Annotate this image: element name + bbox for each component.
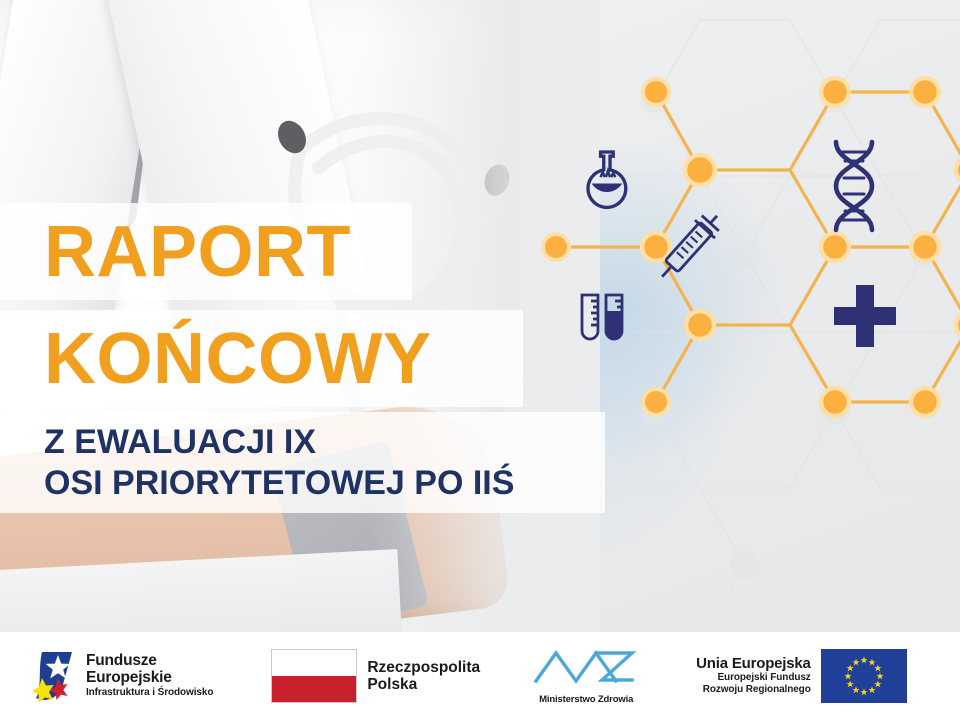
mz-mark-icon	[532, 647, 640, 687]
footer-logo-bar: Fundusze Europejskie Infrastruktura i Śr…	[0, 632, 960, 720]
polish-flag-icon	[271, 649, 357, 703]
logo-ministerstwo-zdrowia: Ministerstwo Zdrowia	[532, 647, 640, 705]
test-tubes-icon	[582, 295, 622, 339]
title-band-raport: RAPORT	[0, 203, 412, 300]
mz-caption: Ministerstwo Zdrowia	[532, 694, 640, 705]
flask-icon	[588, 152, 626, 207]
poster-root: RAPORT KOŃCOWY Z EWALUACJI IX OSI PRIORY…	[0, 0, 960, 720]
hero-section: RAPORT KOŃCOWY Z EWALUACJI IX OSI PRIORY…	[0, 0, 960, 632]
subtitle-line-2: OSI PRIORYTETOWEJ PO IIŚ	[0, 463, 514, 503]
ue-line-2: Europejski Fundusz	[696, 672, 811, 684]
fe-line-1: Fundusze	[86, 653, 213, 670]
fundusze-europejskie-mark	[28, 648, 76, 704]
dna-icon	[836, 142, 872, 230]
eu-flag-icon	[821, 649, 907, 703]
medical-cross-icon	[834, 285, 896, 347]
subtitle-line-1: Z EWALUACJI IX	[0, 422, 514, 462]
title-line-1: RAPORT	[0, 216, 351, 288]
rp-line-1: Rzeczpospolita	[367, 659, 480, 676]
title-line-2: KOŃCOWY	[0, 323, 431, 395]
fe-line-3: Infrastruktura i Środowisko	[86, 688, 213, 699]
ue-line-3: Rozwoju Regionalnego	[696, 684, 811, 696]
logo-rzeczpospolita-polska: Rzeczpospolita Polska	[271, 649, 480, 703]
logo-unia-europejska: Unia Europejska Europejski Fundusz Rozwo…	[696, 649, 907, 703]
title-band-subtitle: Z EWALUACJI IX OSI PRIORYTETOWEJ PO IIŚ	[0, 412, 605, 513]
ue-line-1: Unia Europejska	[696, 656, 811, 672]
logo-fundusze-europejskie: Fundusze Europejskie Infrastruktura i Śr…	[28, 648, 213, 704]
fe-line-2: Europejskie	[86, 670, 213, 687]
rp-line-2: Polska	[367, 676, 480, 693]
title-band-koncowy: KOŃCOWY	[0, 310, 523, 407]
